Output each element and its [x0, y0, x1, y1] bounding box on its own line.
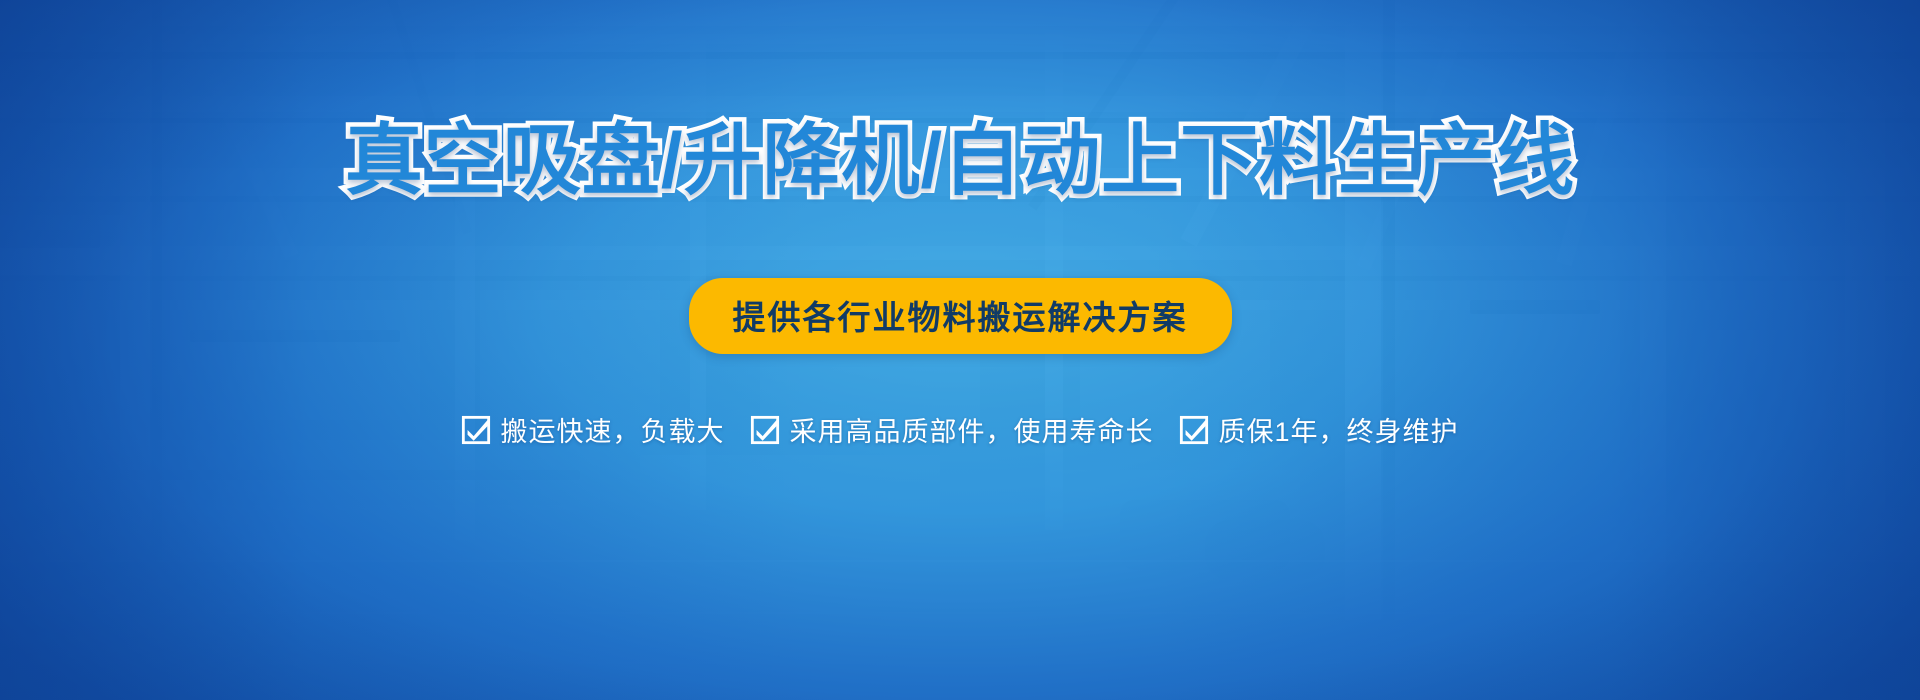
feature-list: 搬运快速，负载大 采用高品质部件，使用寿命长 质保1年，终身维护 — [461, 410, 1458, 449]
feature-item: 质保1年，终身维护 — [1179, 410, 1458, 449]
feature-label: 质保1年，终身维护 — [1218, 410, 1458, 449]
feature-label: 搬运快速，负载大 — [500, 410, 724, 449]
feature-item: 搬运快速，负载大 — [461, 410, 724, 449]
hero-banner: 真空吸盘/升降机/自动上下料生产线 提供各行业物料搬运解决方案 搬运快速，负载大… — [0, 0, 1920, 700]
banner-title: 真空吸盘/升降机/自动上下料生产线 — [345, 120, 1575, 202]
checkbox-checked-icon — [1179, 415, 1209, 445]
checkbox-checked-icon — [461, 415, 491, 445]
feature-label: 采用高品质部件，使用寿命长 — [789, 410, 1153, 449]
banner-content: 真空吸盘/升降机/自动上下料生产线 提供各行业物料搬运解决方案 搬运快速，负载大… — [0, 0, 1920, 700]
feature-item: 采用高品质部件，使用寿命长 — [750, 410, 1153, 449]
checkbox-checked-icon — [750, 415, 780, 445]
banner-subtitle-badge: 提供各行业物料搬运解决方案 — [689, 278, 1232, 354]
